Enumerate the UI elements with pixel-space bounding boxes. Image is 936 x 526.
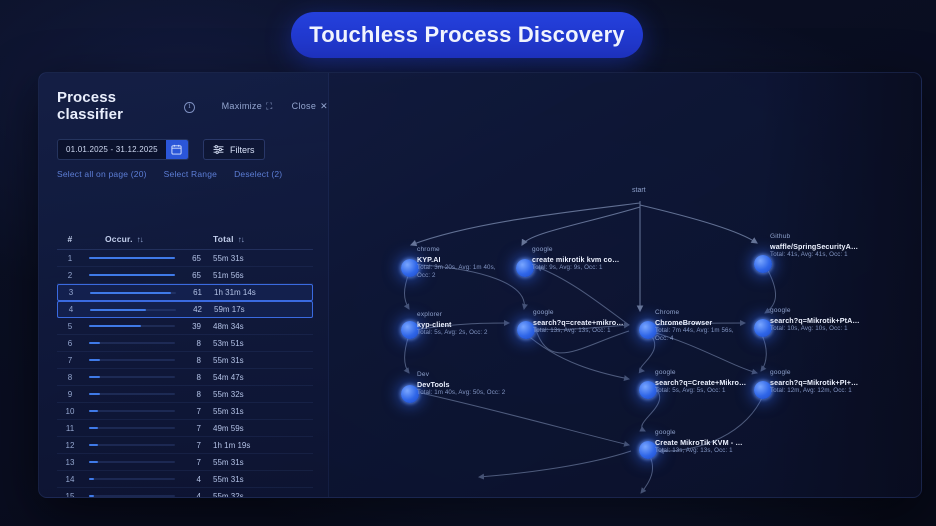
occurrence-bar-track: [89, 376, 175, 378]
graph-start-label: start: [632, 187, 646, 194]
occurrence-value: 4: [181, 492, 201, 499]
occurrence-value: 65: [181, 254, 201, 263]
page-badge: Touchless Process Discovery: [291, 12, 643, 58]
graph-node-label: Githubwaffle/SpringSecurityA…Total: 41s,…: [770, 233, 890, 259]
node-app-name: chrome: [417, 246, 537, 255]
column-header-index: #: [57, 234, 83, 244]
table-row[interactable]: 6853m 51s: [57, 335, 313, 352]
classifier-left-panel: Process classifier Maximize ⛶ Close ✕ 01…: [39, 73, 329, 498]
occurrence-value: 7: [181, 441, 201, 450]
table-row[interactable]: 10755m 31s: [57, 403, 313, 420]
table-row[interactable]: 26551m 56s: [57, 267, 313, 284]
row-occurrences: 7: [83, 441, 201, 450]
row-total-duration: 48m 34s: [201, 322, 301, 331]
row-index: 8: [57, 373, 83, 382]
row-total-duration: 59m 17s: [202, 305, 302, 314]
row-occurrences: 4: [83, 492, 201, 499]
node-stats: Total: 3m 20s, Avg: 1m 40s, Occ: 2: [417, 264, 537, 280]
screenshot-root: Touchless Process Discovery: [0, 0, 936, 526]
row-total-duration: 55m 31s: [201, 356, 301, 365]
calendar-glyph: [171, 144, 182, 155]
graph-edges: [329, 73, 922, 498]
row-occurrences: 7: [83, 424, 201, 433]
node-stats: Total: 13s, Avg: 13s, Occ: 1: [533, 327, 653, 335]
table-row[interactable]: 44259m 17s: [57, 301, 313, 318]
graph-node-label: googlesearch?q=Mikrotik+PI+…Total: 12m, …: [770, 369, 890, 395]
row-index: 2: [57, 271, 83, 280]
row-index: 14: [57, 475, 83, 484]
occurrence-bar-fill: [89, 376, 100, 378]
node-app-name: google: [532, 246, 652, 255]
occurrence-bar-track: [89, 461, 175, 463]
node-stats: Total: 5s, Avg: 2s, Occ: 2: [417, 329, 537, 337]
table-row[interactable]: 1271h 1m 19s: [57, 437, 313, 454]
occurrence-bar-fill: [89, 257, 175, 259]
graph-node-label: googlesearch?q=create+mikro…Total: 13s, …: [533, 309, 653, 335]
table-row[interactable]: 15455m 32s: [57, 488, 313, 498]
date-range-value: 01.01.2025 - 31.12.2025: [58, 140, 166, 159]
badge-label: Touchless Process Discovery: [309, 22, 625, 48]
occurrence-bar-fill: [89, 461, 98, 463]
row-occurrences: 7: [83, 407, 201, 416]
occurrence-bar-fill: [89, 393, 100, 395]
node-title: waffle/SpringSecurityA…: [770, 242, 890, 252]
table-header-row: # Occur. ↑↓ Total ↑↓: [57, 229, 313, 250]
column-header-total-label: Total: [213, 234, 234, 244]
table-row[interactable]: 14455m 31s: [57, 471, 313, 488]
column-header-occur[interactable]: Occur. ↑↓: [83, 234, 201, 244]
row-total-duration: 55m 31s: [201, 407, 301, 416]
calendar-icon[interactable]: [166, 140, 188, 159]
node-title: Create MikroTik KVM - …: [655, 438, 775, 448]
table-row[interactable]: 11749m 59s: [57, 420, 313, 437]
row-total-duration: 1h 31m 14s: [202, 288, 302, 297]
panel-toolbar: 01.01.2025 - 31.12.2025: [39, 123, 328, 160]
occurrence-bar-track: [89, 393, 175, 395]
occurrence-bar-fill: [89, 478, 94, 480]
row-occurrences: 61: [84, 288, 202, 297]
occurrence-bar-track: [90, 292, 176, 294]
process-classifier-window: start end chromeKYP.AITotal: 3m 20s, Avg…: [38, 72, 922, 498]
table-row[interactable]: 53948m 34s: [57, 318, 313, 335]
selection-link[interactable]: Select all on page (20): [57, 169, 147, 179]
node-stats: Total: 41s, Avg: 41s, Occ: 1: [770, 251, 890, 259]
node-app-name: google: [770, 369, 890, 378]
occurrence-value: 7: [181, 424, 201, 433]
row-index: 12: [57, 441, 83, 450]
graph-node-label: explorerkyp-clientTotal: 5s, Avg: 2s, Oc…: [417, 311, 537, 337]
column-header-occur-label: Occur.: [105, 234, 133, 244]
occurrence-bar-track: [89, 342, 175, 344]
node-title: search?q=Mikrotik+PI+…: [770, 378, 890, 388]
node-stats: Total: 7m 44s, Avg: 1m 56s, Occ: 4: [655, 327, 775, 343]
node-app-name: Dev: [417, 371, 537, 380]
node-stats: Total: 9s, Avg: 9s, Occ: 1: [532, 264, 652, 272]
occurrence-value: 7: [181, 458, 201, 467]
row-index: 13: [57, 458, 83, 467]
occurrence-bar-fill: [89, 410, 98, 412]
row-index: 9: [57, 390, 83, 399]
close-label: Close: [292, 101, 317, 111]
node-stats: Total: 10s, Avg: 10s, Occ: 1: [770, 325, 890, 333]
node-title: search?q=create+mikro…: [533, 318, 653, 328]
occurrence-bar-track: [89, 427, 175, 429]
node-stats: Total: 13s, Avg: 13s, Occ: 1: [655, 447, 775, 455]
node-title: search?q=Create+Mikro…: [655, 378, 775, 388]
occurrence-bar-fill: [89, 274, 175, 276]
graph-node-label: googlesearch?q=Mikrotik+PtA…Total: 10s, …: [770, 307, 890, 333]
table-row[interactable]: 3611h 31m 14s: [57, 284, 313, 301]
occurrence-bar-track: [89, 495, 175, 497]
filter-sliders-icon: [213, 145, 224, 154]
row-occurrences: 8: [83, 356, 201, 365]
occurrence-value: 39: [181, 322, 201, 331]
occurrence-value: 7: [181, 407, 201, 416]
occurrence-bar-track: [90, 309, 176, 311]
selection-link[interactable]: Select Range: [164, 169, 217, 179]
node-app-name: google: [533, 309, 653, 318]
row-occurrences: 8: [83, 373, 201, 382]
node-app-name: Github: [770, 233, 890, 242]
node-title: create mikrotik kvm co…: [532, 255, 652, 265]
occurrence-bar-fill: [90, 309, 146, 311]
node-title: KYP.AI: [417, 255, 537, 265]
node-title: ChromeBrowser: [655, 318, 775, 328]
node-title: DevTools: [417, 380, 537, 390]
node-app-name: Chrome: [655, 309, 775, 318]
row-index: 1: [57, 254, 83, 263]
info-icon[interactable]: [184, 102, 194, 113]
occurrence-bar-fill: [89, 325, 141, 327]
row-total-duration: 55m 32s: [201, 492, 301, 499]
sort-icon: ↑↓: [238, 235, 244, 244]
row-index: 6: [57, 339, 83, 348]
column-header-total[interactable]: Total ↑↓: [201, 234, 301, 244]
row-occurrences: 7: [83, 458, 201, 467]
row-index: 4: [58, 305, 84, 314]
row-index: 5: [57, 322, 83, 331]
row-occurrences: 39: [83, 322, 201, 331]
node-stats: Total: 12m, Avg: 12m, Occ: 1: [770, 387, 890, 395]
table-row[interactable]: 13755m 31s: [57, 454, 313, 471]
row-index: 7: [57, 356, 83, 365]
row-index: 3: [58, 288, 84, 297]
occurrence-bar-fill: [89, 342, 100, 344]
row-total-duration: 49m 59s: [201, 424, 301, 433]
occurrence-bar-fill: [89, 495, 94, 497]
graph-node-label: chromeKYP.AITotal: 3m 20s, Avg: 1m 40s, …: [417, 246, 537, 280]
row-total-duration: 53m 51s: [201, 339, 301, 348]
occurrence-bar-fill: [89, 427, 98, 429]
row-total-duration: 55m 32s: [201, 390, 301, 399]
row-occurrences: 65: [83, 254, 201, 263]
close-icon: ✕: [320, 101, 328, 112]
table-row[interactable]: 9855m 32s: [57, 386, 313, 403]
row-occurrences: 8: [83, 339, 201, 348]
filters-label: Filters: [230, 145, 255, 155]
graph-node-label: googlecreate mikrotik kvm co…Total: 9s, …: [532, 246, 652, 272]
occurrence-bar-track: [89, 325, 175, 327]
row-total-duration: 54m 47s: [201, 373, 301, 382]
selection-links: Select all on page (20)Select RangeDesel…: [39, 160, 328, 179]
filters-button[interactable]: Filters: [203, 139, 265, 160]
occurrence-bar-track: [89, 410, 175, 412]
maximize-icon: ⛶: [266, 101, 273, 112]
maximize-button[interactable]: Maximize ⛶: [222, 101, 273, 112]
row-total-duration: 51m 56s: [201, 271, 301, 280]
node-stats: Total: 1m 40s, Avg: 50s, Occ: 2: [417, 389, 537, 397]
table-row[interactable]: 8854m 47s: [57, 369, 313, 386]
process-graph-canvas[interactable]: start end chromeKYP.AITotal: 3m 20s, Avg…: [329, 73, 922, 498]
occurrence-bar-track: [89, 257, 175, 259]
table-body: 16555m 31s26551m 56s3611h 31m 14s44259m …: [57, 250, 313, 498]
maximize-label: Maximize: [222, 101, 262, 111]
occurrence-bar-track: [89, 478, 175, 480]
panel-header: Process classifier Maximize ⛶ Close ✕: [39, 73, 328, 123]
node-app-name: explorer: [417, 311, 537, 320]
graph-node-label: googleCreate MikroTik KVM - …Total: 13s,…: [655, 429, 775, 455]
occurrence-bar-track: [89, 274, 175, 276]
row-occurrences: 42: [84, 305, 202, 314]
node-app-name: google: [655, 369, 775, 378]
occurrence-value: 8: [181, 339, 201, 348]
table-row[interactable]: 16555m 31s: [57, 250, 313, 267]
row-total-duration: 55m 31s: [201, 458, 301, 467]
node-title: search?q=Mikrotik+PtA…: [770, 316, 890, 326]
occurrence-value: 8: [181, 356, 201, 365]
close-button[interactable]: Close ✕: [292, 101, 328, 112]
graph-node-label: ChromeChromeBrowserTotal: 7m 44s, Avg: 1…: [655, 309, 775, 343]
graph-node-label: DevDevToolsTotal: 1m 40s, Avg: 50s, Occ:…: [417, 371, 537, 397]
occurrence-value: 42: [182, 305, 202, 314]
occurrence-value: 8: [181, 390, 201, 399]
node-app-name: google: [655, 429, 775, 438]
row-occurrences: 4: [83, 475, 201, 484]
selection-link[interactable]: Deselect (2): [234, 169, 282, 179]
sort-icon: ↑↓: [137, 235, 143, 244]
occurrence-bar-fill: [89, 359, 100, 361]
node-app-name: google: [770, 307, 890, 316]
row-index: 15: [57, 492, 83, 499]
row-occurrences: 8: [83, 390, 201, 399]
row-total-duration: 1h 1m 19s: [201, 441, 301, 450]
date-range-picker[interactable]: 01.01.2025 - 31.12.2025: [57, 139, 189, 160]
occurrence-value: 65: [181, 271, 201, 280]
occurrence-value: 4: [181, 475, 201, 484]
occurrences-table: # Occur. ↑↓ Total ↑↓ 16555m 31s26551m 56…: [57, 229, 313, 498]
row-total-duration: 55m 31s: [201, 254, 301, 263]
occurrence-value: 8: [181, 373, 201, 382]
row-index: 11: [57, 424, 83, 433]
occurrence-bar-track: [89, 444, 175, 446]
node-stats: Total: 5s, Avg: 5s, Occ: 1: [655, 387, 775, 395]
row-total-duration: 55m 31s: [201, 475, 301, 484]
row-index: 10: [57, 407, 83, 416]
graph-node-label: googlesearch?q=Create+Mikro…Total: 5s, A…: [655, 369, 775, 395]
occurrence-value: 61: [182, 288, 202, 297]
table-row[interactable]: 7855m 31s: [57, 352, 313, 369]
occurrence-bar-fill: [89, 444, 98, 446]
node-title: kyp-client: [417, 320, 537, 330]
row-occurrences: 65: [83, 271, 201, 280]
occurrence-bar-fill: [90, 292, 171, 294]
occurrence-bar-track: [89, 359, 175, 361]
page-title: Process classifier: [57, 89, 177, 123]
